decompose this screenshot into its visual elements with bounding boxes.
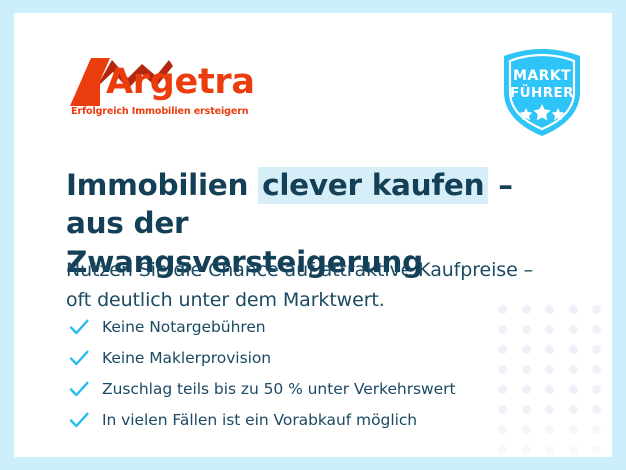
headline-part-after: – [488,168,512,202]
list-item-label: In vielen Fällen ist ein Vorabkauf mögli… [102,411,417,429]
subheading: Nutzen Sie die Chance auf attraktive Kau… [66,255,556,315]
banner-card: Argetra Erfolgreich Immobilien ersteiger… [14,13,612,457]
check-icon [68,409,90,431]
headline-line1: Immobilien clever kaufen – [66,167,513,204]
dot-row [498,445,610,454]
decorative-dot [522,445,531,454]
list-item-label: Keine Notargebühren [102,318,266,336]
decorative-dot [592,365,601,374]
decorative-dot [592,385,601,394]
list-item: Zuschlag teils bis zu 50 % unter Verkehr… [68,373,538,404]
decorative-dot [592,445,601,454]
decorative-dot [545,405,554,414]
decorative-dot [569,345,578,354]
check-icon [68,316,90,338]
logo-tagline: Erfolgreich Immobilien ersteigern [71,106,248,117]
subheading-line-1: Nutzen Sie die Chance auf attraktive Kau… [66,259,533,281]
decorative-dot [569,305,578,314]
decorative-dot [545,345,554,354]
decorative-dot [569,405,578,414]
decorative-dot [569,325,578,334]
decorative-dot [569,385,578,394]
decorative-dot [569,445,578,454]
list-item-label: Zuschlag teils bis zu 50 % unter Verkehr… [102,380,456,398]
list-item: In vielen Fällen ist ein Vorabkauf mögli… [68,404,538,435]
decorative-dot [592,405,601,414]
decorative-dot [498,445,507,454]
decorative-dot [592,345,601,354]
benefits-list: Keine NotargebührenKeine Maklerprovision… [68,311,538,435]
markt-fuehrer-badge: MARKT FÜHRER [500,48,584,138]
decorative-dot [545,425,554,434]
subheading-line-2: oft deutlich unter dem Marktwert. [66,289,385,311]
decorative-dot [545,385,554,394]
decorative-dot [545,365,554,374]
check-icon [68,347,90,369]
decorative-dot [545,445,554,454]
check-icon [68,378,90,400]
promo-banner: Argetra Erfolgreich Immobilien ersteiger… [0,0,626,470]
logo-wordmark: Argetra [106,65,255,100]
headline-highlight: clever kaufen [258,167,488,204]
decorative-dot [569,365,578,374]
list-item-label: Keine Maklerprovision [102,349,271,367]
headline-part-before: Immobilien [66,168,258,202]
list-item: Keine Notargebühren [68,311,538,342]
decorative-dot [592,305,601,314]
decorative-dot [592,325,601,334]
decorative-dot [592,425,601,434]
decorative-dot [545,325,554,334]
shield-badge-icon [500,48,584,138]
list-item: Keine Maklerprovision [68,342,538,373]
argetra-logo: Argetra Erfolgreich Immobilien ersteiger… [70,54,260,120]
decorative-dot [569,425,578,434]
